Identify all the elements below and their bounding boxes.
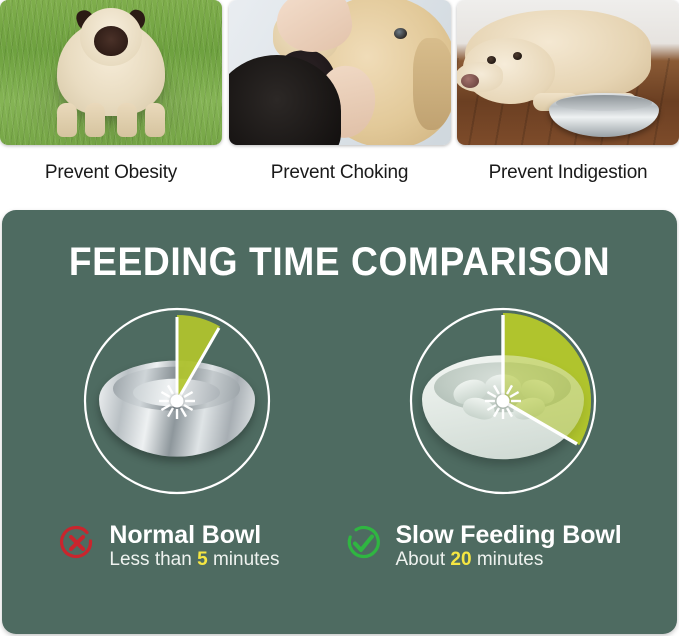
feeding-time-comparison-panel: FEEDING TIME COMPARISON [2,210,677,634]
result-sub-prefix: About [395,549,450,570]
slow-feeding-bowl-gauge [403,301,603,501]
benefit-caption-choking: Prevent Choking [271,162,408,184]
result-slow-feeding-bowl: Slow Feeding Bowl About 20 minutes [343,521,621,570]
photo-vet-checking-dog-mouth [229,0,451,145]
slow-feeding-bowl-gauge-column [403,301,603,501]
results-row: Normal Bowl Less than 5 minutes Slow Fee… [2,521,677,570]
dial-center-hub [496,395,509,408]
result-sub-value: 5 [197,549,208,570]
pug-leg [57,103,77,137]
benefit-item-choking: Prevent Choking [229,0,451,184]
pug-face-shape [94,26,128,56]
labrador-eye [513,52,522,60]
pug-leg [117,103,137,137]
result-sub-prefix: Less than [109,549,197,570]
normal-bowl-gauge-column [77,301,277,501]
retriever-eye [394,28,407,39]
result-normal-bowl: Normal Bowl Less than 5 minutes [57,521,279,570]
benefit-caption-indigestion: Prevent Indigestion [489,162,648,184]
photo-overweight-pug [0,0,222,145]
benefit-caption-obesity: Prevent Obesity [45,162,177,184]
dial-center-hub [170,395,183,408]
benefit-item-indigestion: Prevent Indigestion [457,0,679,184]
circle-x-icon [57,523,97,568]
result-title-slow-feeding-bowl: Slow Feeding Bowl [395,521,621,549]
result-title-normal-bowl: Normal Bowl [109,521,279,549]
result-text-slow-feeding-bowl: Slow Feeding Bowl About 20 minutes [395,521,621,570]
circle-check-icon [343,523,383,568]
pug-legs [55,101,167,137]
benefits-strip: Prevent Obesity Prevent Choking [0,0,679,184]
result-sub-value: 20 [450,549,471,570]
normal-bowl-gauge [77,301,277,501]
labrador-eye [487,56,496,64]
result-sub-suffix: minutes [472,549,544,570]
result-subtitle-slow-feeding-bowl: About 20 minutes [395,549,621,570]
benefit-item-obesity: Prevent Obesity [0,0,222,184]
gauge-row [2,301,677,501]
retriever-ear [413,38,451,130]
result-text-normal-bowl: Normal Bowl Less than 5 minutes [109,521,279,570]
result-subtitle-normal-bowl: Less than 5 minutes [109,549,279,570]
photo-labrador-with-bowl [457,0,679,145]
result-sub-suffix: minutes [208,549,280,570]
pug-leg [85,103,105,137]
page-title: FEEDING TIME COMPARISON [26,240,654,285]
labrador-nose [461,74,479,88]
pug-leg [145,103,165,137]
